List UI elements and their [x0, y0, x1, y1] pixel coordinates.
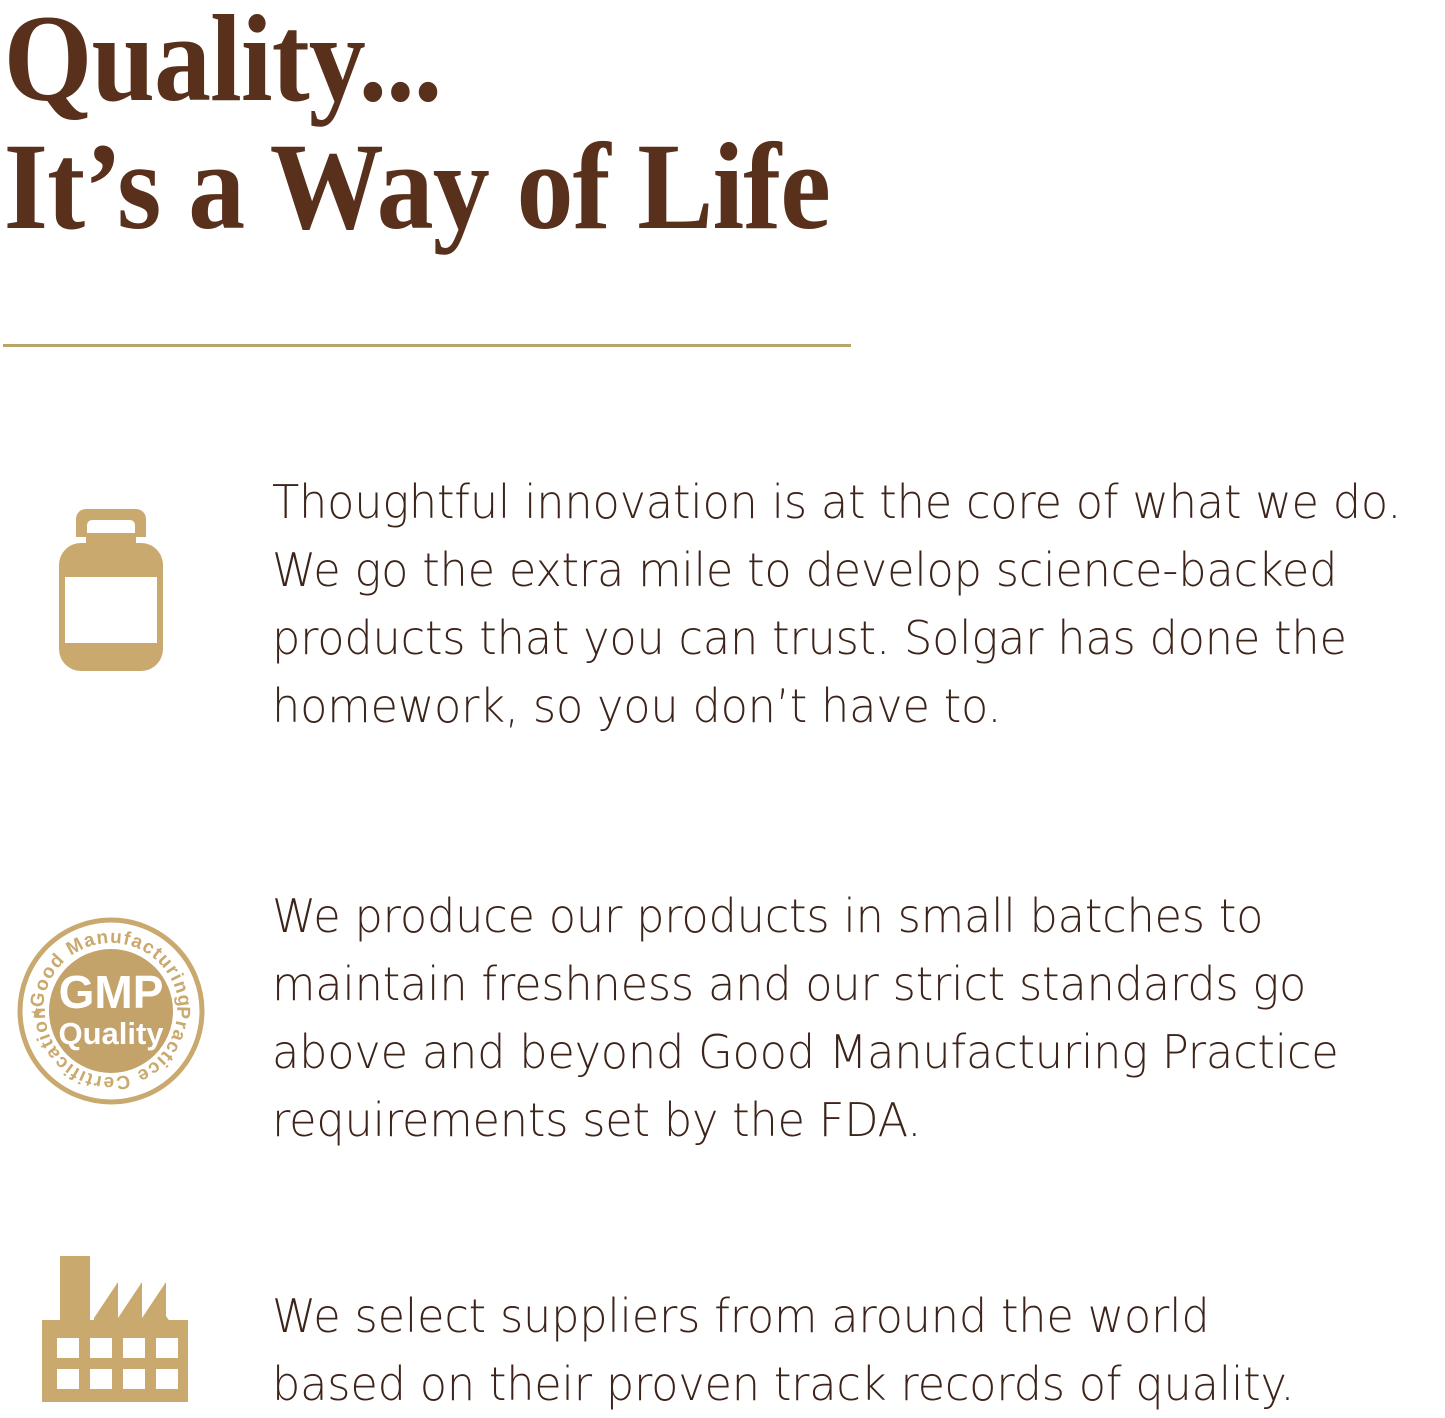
- supplement-bottle-icon: [56, 509, 166, 671]
- gmp-inner-line-1: GMP: [59, 966, 164, 1018]
- gmp-star-icon: ★: [30, 1004, 43, 1022]
- gmp-quality-seal-icon: Good Manufacturing Practice Certificatio…: [16, 916, 206, 1106]
- page-title-line-1: Quality...: [0, 0, 1104, 124]
- gmp-inner-line-2: Quality: [58, 1016, 164, 1051]
- feature-text-manufacturing: We produce our products in small batches…: [272, 882, 1407, 1154]
- page-title: Quality... It’s a Way of Life: [0, 0, 1200, 250]
- page-title-line-2: It’s a Way of Life: [0, 124, 1104, 250]
- quality-page: Quality... It’s a Way of Life Thoughtful…: [0, 0, 1445, 1413]
- feature-text-innovation: Thoughtful innovation is at the core of …: [272, 468, 1407, 740]
- feature-text-suppliers: We select suppliers from around the worl…: [272, 1282, 1407, 1418]
- factory-icon: [42, 1254, 188, 1404]
- gold-divider: [3, 344, 851, 347]
